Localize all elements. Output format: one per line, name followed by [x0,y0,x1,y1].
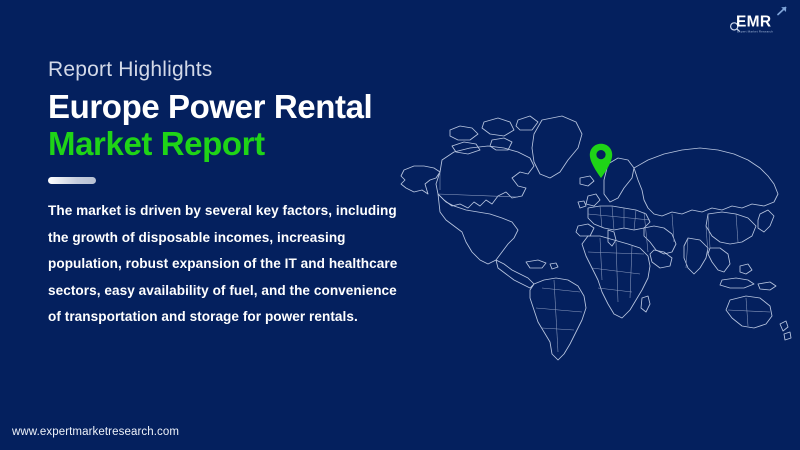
emr-tagline: Expert Market Research [737,30,773,34]
footer-website-url[interactable]: www.expertmarketresearch.com [12,426,179,438]
body-paragraph: The market is driven by several key fact… [48,198,410,331]
world-map [392,102,796,364]
emr-logo[interactable]: EMR Expert Market Research [728,6,790,36]
report-highlight-slide: EMR Expert Market Research Report Highli… [0,0,800,450]
divider-pill [48,177,96,184]
location-pin-icon[interactable] [589,143,613,179]
content-column: Report Highlights Europe Power Rental Ma… [48,58,428,331]
map-internal-borders [438,172,770,352]
eyebrow-label: Report Highlights [48,58,428,81]
page-title-line-2: Market Report [48,126,428,163]
page-title-line-1: Europe Power Rental [48,89,428,126]
emr-wordmark: EMR [736,13,771,30]
growth-arrow-icon [778,7,786,15]
